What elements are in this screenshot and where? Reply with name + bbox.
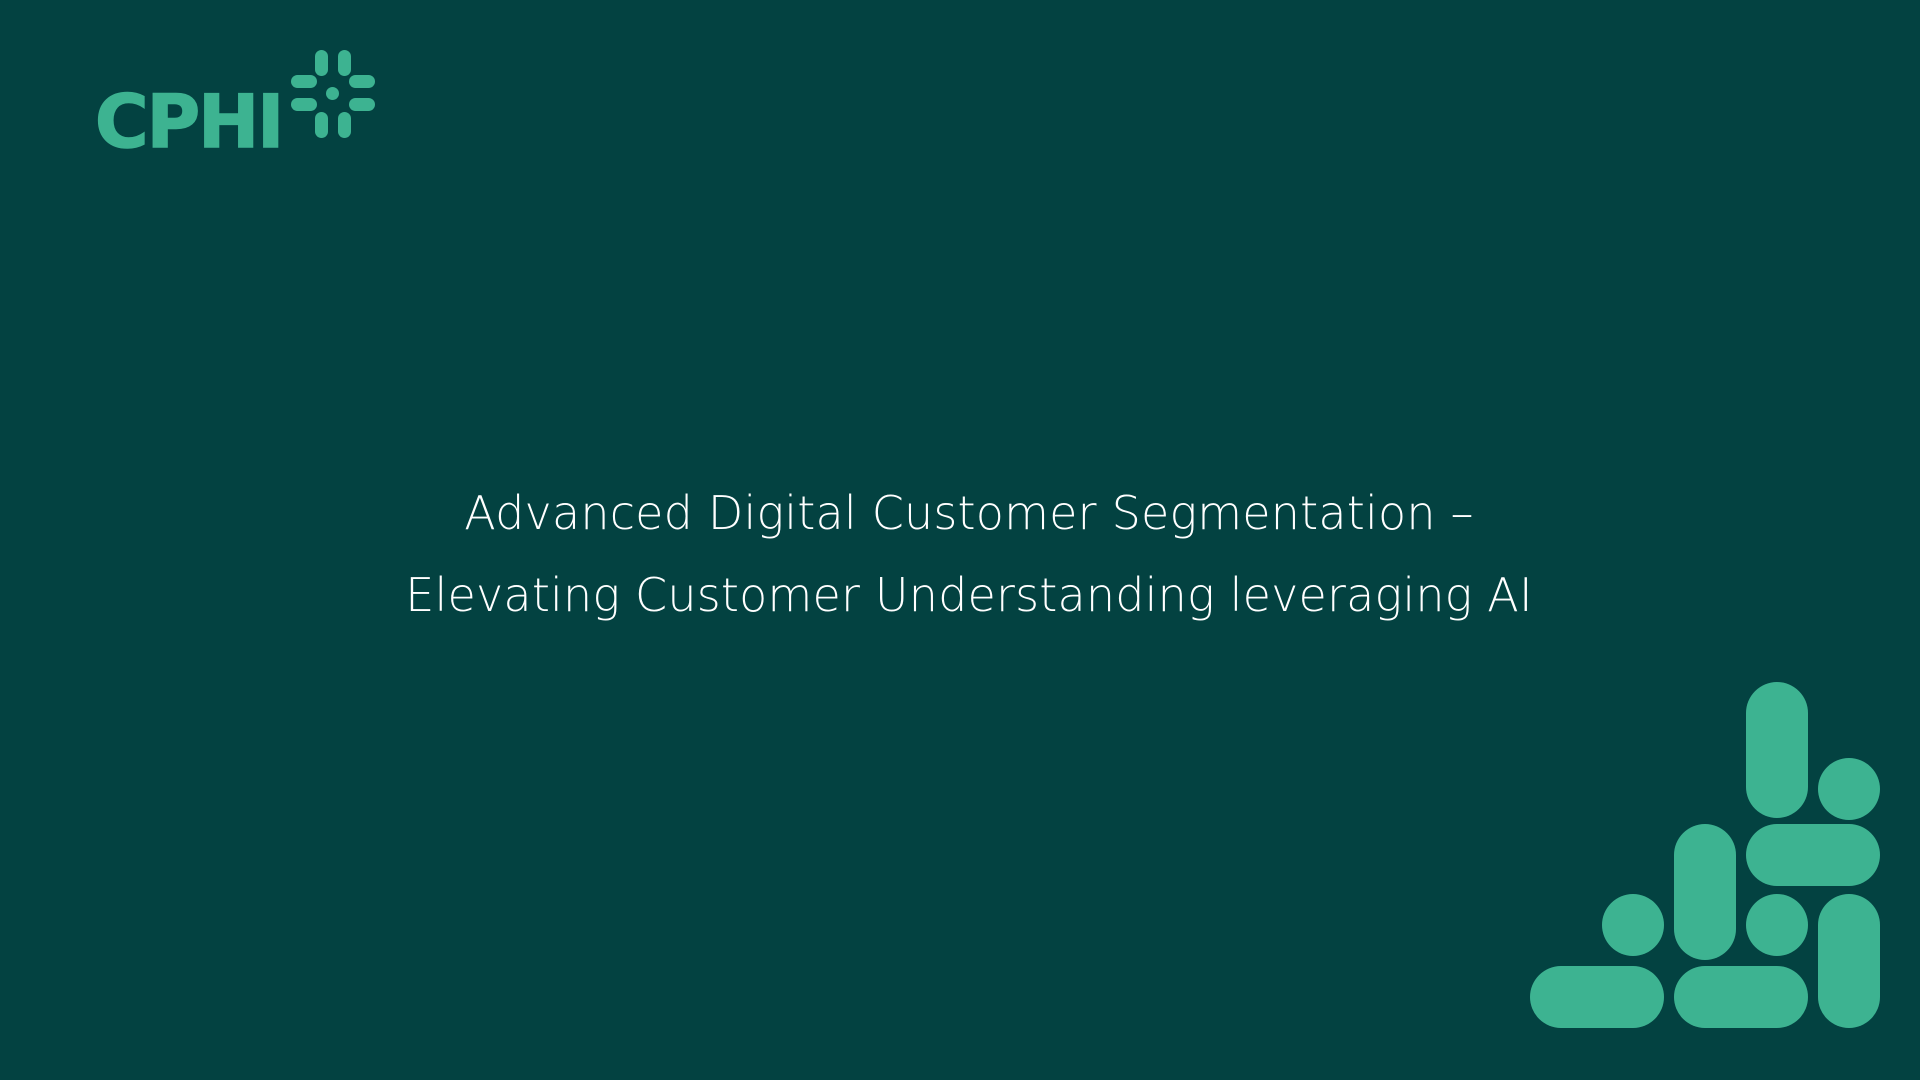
- sunburst-pill-left-upper: [291, 75, 317, 88]
- deco-bar-wide-mid: [1746, 824, 1880, 886]
- sunburst-pill-left-lower: [291, 98, 317, 111]
- deco-bar-wide-bottom-mid: [1674, 966, 1808, 1028]
- deco-bar-wide-bottom-left: [1530, 966, 1664, 1028]
- deco-bar-tall-right: [1818, 894, 1880, 1028]
- sunburst-pill-top-right: [338, 50, 351, 76]
- deco-bar-tall-top: [1746, 682, 1808, 818]
- deco-bar-tall-mid: [1674, 824, 1736, 960]
- slide-title-line-2: Elevating Customer Understanding leverag…: [9, 554, 1920, 636]
- cphi-sunburst-icon: [291, 48, 375, 140]
- slide-title-block: Advanced Digital Customer Segmentation –…: [0, 472, 1920, 636]
- cphi-logo[interactable]: CPHI: [95, 48, 415, 158]
- deco-circle-top-right: [1818, 758, 1880, 820]
- cphi-wordmark: CPHI: [95, 86, 282, 159]
- slide-title-line-1: Advanced Digital Customer Segmentation –: [9, 472, 1920, 554]
- pill-bar-graphic: [1520, 672, 1920, 1072]
- sunburst-pill-bottom-right: [338, 112, 351, 138]
- sunburst-pill-right-upper: [349, 75, 375, 88]
- sunburst-pill-right-lower: [349, 98, 375, 111]
- deco-circle-left: [1602, 894, 1664, 956]
- sunburst-pill-bottom-left: [315, 112, 328, 138]
- sunburst-pill-top-left: [315, 50, 328, 76]
- slide-root: CPHI Advanced Digital Customer Segmentat…: [0, 0, 1920, 1080]
- sunburst-center-dot: [326, 87, 339, 100]
- deco-circle-mid: [1746, 894, 1808, 956]
